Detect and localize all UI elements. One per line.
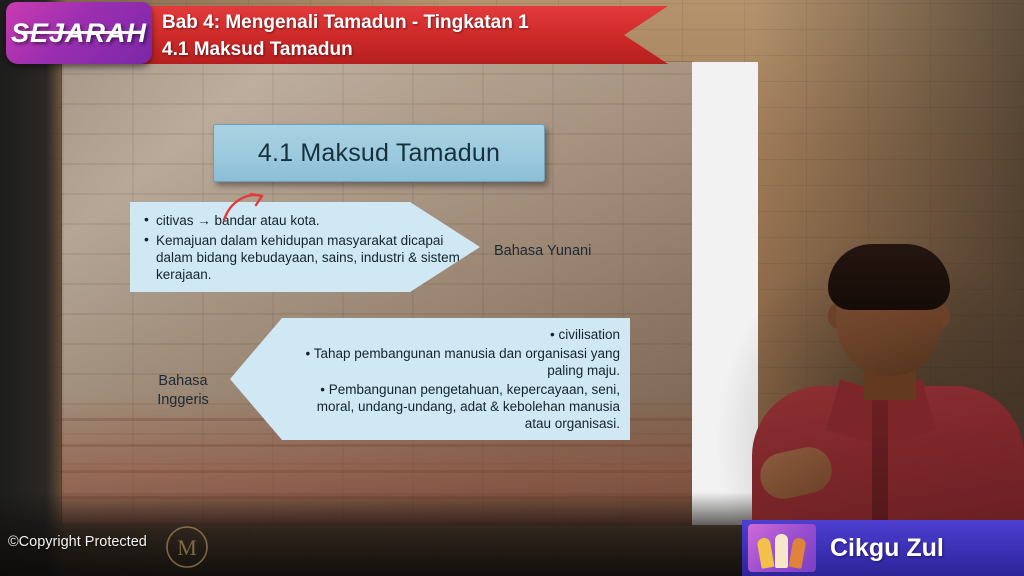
callout-yunani-bullet-1: citivas → bandar atau kota. — [156, 212, 470, 229]
lesson-banner: Bab 4: Mengenali Tamadun - Tingkatan 1 4… — [120, 6, 668, 64]
label-bahasa-inggeris: Bahasa Inggeris — [138, 372, 228, 410]
banner-line-1: Bab 4: Mengenali Tamadun - Tingkatan 1 — [162, 6, 668, 36]
callout-inggeris-line-1: • civilisation — [230, 326, 620, 343]
callout-bahasa-yunani: citivas → bandar atau kota. Kemajuan dal… — [130, 202, 480, 292]
label-bahasa-yunani: Bahasa Yunani — [494, 243, 591, 259]
sejarah-logo: SEJARAH — [6, 2, 152, 64]
svg-text:M: M — [177, 535, 197, 560]
sejarah-logo-strike — [18, 31, 140, 34]
label-bahasa-inggeris-line2: Inggeris — [138, 391, 228, 410]
red-arrow-annotation-icon — [220, 190, 266, 224]
callout-inggeris-line-2: • Tahap pembangunan manusia dan organisa… — [230, 345, 620, 379]
slide-canvas: 4.1 Maksud Tamadun citivas → bandar atau… — [62, 62, 692, 525]
background-left-shade — [0, 0, 66, 576]
banner-line-2: 4.1 Maksud Tamadun — [162, 36, 668, 63]
watermark-seal-icon: M — [160, 520, 214, 574]
callout-yunani-bullet-2: Kemajuan dalam kehidupan masyarakat dica… — [156, 232, 470, 283]
slide-title: 4.1 Maksud Tamadun — [258, 139, 500, 168]
presenter-name: Cikgu Zul — [830, 534, 944, 563]
label-bahasa-inggeris-line1: Bahasa — [138, 372, 228, 391]
callout-bahasa-inggeris: • civilisation • Tahap pembangunan manus… — [230, 318, 630, 440]
presenter-nameplate: Cikgu Zul — [742, 520, 1024, 576]
books-icon — [748, 524, 816, 572]
presenter-hair — [828, 244, 950, 310]
slide-title-box: 4.1 Maksud Tamadun — [213, 124, 545, 182]
callout-inggeris-line-3: • Pembangunan pengetahuan, kepercayaan, … — [230, 381, 620, 432]
copyright-notice: ©Copyright Protected — [8, 534, 147, 550]
